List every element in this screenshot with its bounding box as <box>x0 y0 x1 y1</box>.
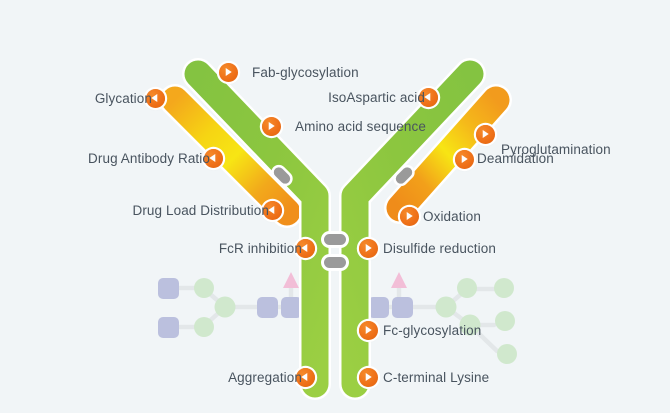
marker-fab-glycosylation[interactable] <box>219 63 238 82</box>
label-fc-glycosylation[interactable]: Fc-glycosylation <box>383 323 481 339</box>
label-oxidation[interactable]: Oxidation <box>423 209 481 225</box>
label-isoaspartic-acid[interactable]: IsoAspartic acid <box>328 90 425 106</box>
label-aggregation[interactable]: Aggregation <box>228 370 302 386</box>
marker-deamidation[interactable] <box>455 150 474 169</box>
label-disulfide-reduction[interactable]: Disulfide reduction <box>383 241 496 257</box>
label-drug-load-distribution[interactable]: Drug Load Distribution <box>132 203 269 219</box>
marker-disulfide-reduction[interactable] <box>359 239 378 258</box>
glycan-right <box>363 272 517 364</box>
marker-fc-glycosylation[interactable] <box>359 321 378 340</box>
label-fcr-inhibition[interactable]: FcR inhibition <box>219 241 302 257</box>
label-glycation[interactable]: Glycation <box>95 91 152 107</box>
marker-pyroglutamination[interactable] <box>476 125 495 144</box>
glycan-left <box>158 272 307 338</box>
label-deamidation[interactable]: Deamidation <box>477 151 554 167</box>
marker-oxidation[interactable] <box>400 207 419 226</box>
antibody-illustration <box>0 0 670 413</box>
marker-amino-acid-sequence[interactable] <box>262 117 281 136</box>
marker-c-terminal-lysine[interactable] <box>359 368 378 387</box>
label-amino-acid-sequence[interactable]: Amino acid sequence <box>295 119 426 135</box>
antibody-diagram-canvas: Fab-glycosylationGlycationIsoAspartic ac… <box>0 0 670 413</box>
label-fab-glycosylation[interactable]: Fab-glycosylation <box>252 65 359 81</box>
label-c-terminal-lysine[interactable]: C-terminal Lysine <box>383 370 489 386</box>
label-drug-antibody-ratio[interactable]: Drug Antibody Ratio <box>88 151 210 167</box>
